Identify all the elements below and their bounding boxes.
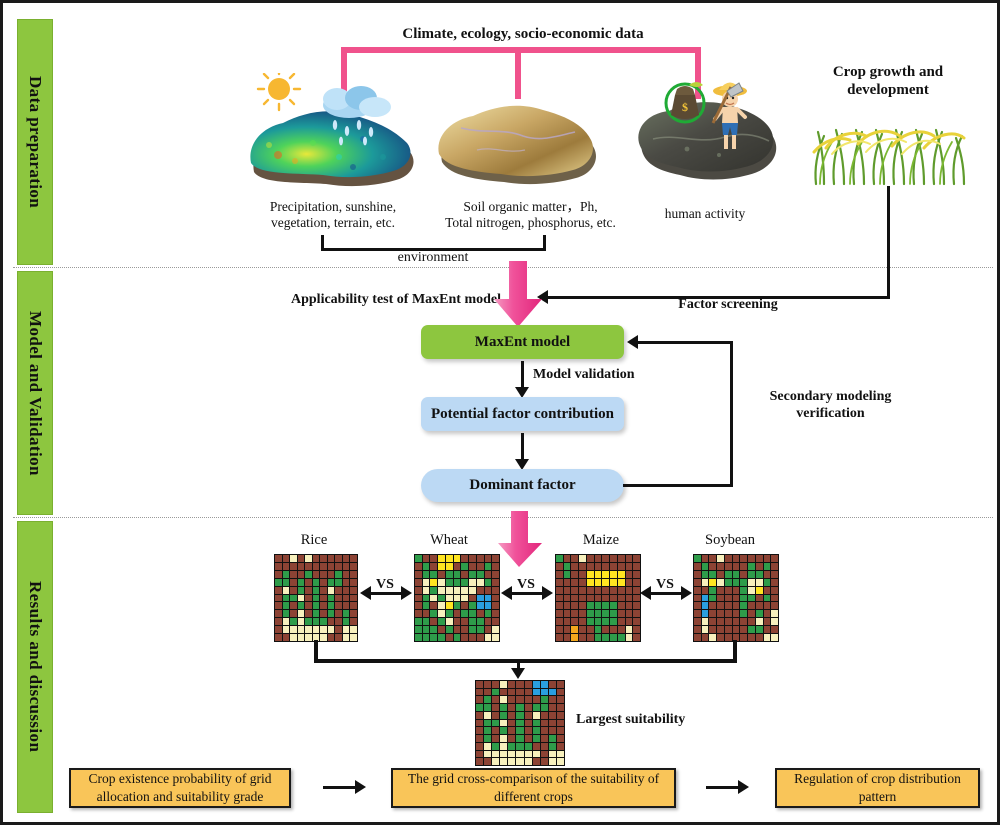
grid-cell: [343, 571, 350, 578]
grid-cell: [423, 555, 430, 562]
grid-cell: [485, 587, 492, 594]
grid-cell: [415, 563, 422, 570]
grid-cell: [492, 571, 499, 578]
grid-cell: [595, 595, 602, 602]
grid-cell: [748, 634, 755, 641]
bottom-step-3-label: Regulation of crop distribution pattern: [794, 770, 961, 805]
grid-cell: [275, 587, 282, 594]
grid-cell: [587, 579, 594, 586]
grid-cell: [579, 579, 586, 586]
grid-cell: [633, 587, 640, 594]
grid-cell: [756, 579, 763, 586]
grid-cell: [469, 571, 476, 578]
crop-grid-maize: [555, 554, 641, 642]
grid-cell: [564, 587, 571, 594]
grid-cell: [587, 626, 594, 633]
crop-grid-soybean: [693, 554, 779, 642]
grid-cell: [579, 595, 586, 602]
environment-bracket-leg-left: [321, 235, 324, 251]
grid-cell: [702, 579, 709, 586]
grid-cell: [430, 602, 437, 609]
grid-cell: [602, 602, 609, 609]
grid-cell: [733, 618, 740, 625]
grid-cell: [626, 602, 633, 609]
merge-line-horizontal: [314, 659, 737, 663]
grid-cell: [740, 571, 747, 578]
grid-cell: [587, 555, 594, 562]
grid-cell: [438, 587, 445, 594]
grid-cell: [313, 626, 320, 633]
grid-cell: [764, 595, 771, 602]
grid-cell: [423, 610, 430, 617]
grid-cell: [571, 563, 578, 570]
grid-cell: [484, 689, 491, 696]
grid-cell: [492, 602, 499, 609]
pink-bracket-top: [341, 47, 701, 53]
bottom-step-1-label: Crop existence probability of grid alloc…: [89, 770, 272, 805]
grid-cell: [702, 618, 709, 625]
grid-cell: [335, 634, 342, 641]
vs-arrow-2-head-left: [501, 586, 512, 600]
grid-cell: [492, 751, 499, 758]
grid-cell: [469, 618, 476, 625]
grid-cell: [748, 563, 755, 570]
grid-cell: [298, 579, 305, 586]
grid-cell: [343, 626, 350, 633]
grid-cell: [571, 602, 578, 609]
grid-cell: [709, 634, 716, 641]
grid-cell: [492, 555, 499, 562]
grid-cell: [298, 563, 305, 570]
bottom-arrow-1-head: [355, 780, 366, 794]
grid-cell: [485, 571, 492, 578]
grid-cell: [461, 555, 468, 562]
grid-cell: [423, 602, 430, 609]
grid-cell: [633, 634, 640, 641]
grid-cell: [423, 579, 430, 586]
grid-cell: [725, 579, 732, 586]
grid-cell: [525, 743, 532, 750]
grid-cell: [508, 720, 515, 727]
grid-cell: [626, 618, 633, 625]
largest-suitability-label: Largest suitability: [576, 711, 756, 728]
grid-cell: [618, 618, 625, 625]
grid-cell: [564, 595, 571, 602]
grid-cell: [618, 579, 625, 586]
grid-cell: [313, 587, 320, 594]
grid-cell: [290, 595, 297, 602]
grid-cell: [764, 563, 771, 570]
grid-cell: [492, 758, 499, 765]
grid-cell: [500, 758, 507, 765]
grid-cell: [328, 571, 335, 578]
grid-cell: [313, 555, 320, 562]
grid-cell: [595, 579, 602, 586]
grid-cell: [290, 610, 297, 617]
grid-cell: [733, 626, 740, 633]
grid-cell: [508, 743, 515, 750]
grid-cell: [618, 571, 625, 578]
grid-cell: [525, 689, 532, 696]
grid-cell: [756, 563, 763, 570]
grid-cell: [484, 758, 491, 765]
grid-cell: [275, 634, 282, 641]
grid-cell: [492, 618, 499, 625]
grid-cell: [610, 634, 617, 641]
grid-cell: [298, 571, 305, 578]
grid-cell: [748, 555, 755, 562]
svg-text:$: $: [682, 100, 688, 114]
grid-cell: [343, 587, 350, 594]
grid-cell: [283, 587, 290, 594]
grid-cell: [564, 579, 571, 586]
grid-cell: [454, 626, 461, 633]
grid-cell: [500, 712, 507, 719]
grid-cell: [275, 626, 282, 633]
vs-label-2: VS: [506, 577, 546, 593]
grid-cell: [556, 634, 563, 641]
grid-cell: [446, 595, 453, 602]
grid-cell: [602, 610, 609, 617]
grid-cell: [557, 681, 564, 688]
grid-cell: [595, 555, 602, 562]
grid-cell: [748, 610, 755, 617]
grid-cell: [454, 579, 461, 586]
grid-cell: [454, 595, 461, 602]
grid-cell: [525, 712, 532, 719]
bottom-step-1[interactable]: Crop existence probability of grid alloc…: [69, 768, 291, 808]
grid-cell: [305, 634, 312, 641]
bottom-step-2[interactable]: The grid cross-comparison of the suitabi…: [391, 768, 676, 808]
feedback-loop-top: [638, 341, 733, 344]
stage-label-results-and-discussion: Results and discussion: [25, 581, 45, 752]
grid-cell: [350, 579, 357, 586]
grid-cell: [423, 563, 430, 570]
grid-cell: [430, 587, 437, 594]
grid-cell: [320, 555, 327, 562]
grid-cell: [335, 595, 342, 602]
crop-title-maize: Maize: [555, 532, 647, 550]
grid-cell: [454, 618, 461, 625]
vs-arrow-3-head-right: [681, 586, 692, 600]
grid-cell: [476, 704, 483, 711]
grid-cell: [485, 634, 492, 641]
grid-cell: [335, 555, 342, 562]
grid-cell: [618, 555, 625, 562]
grid-cell: [595, 602, 602, 609]
grid-cell: [610, 626, 617, 633]
grid-cell: [694, 634, 701, 641]
grid-cell: [485, 626, 492, 633]
grid-cell: [610, 579, 617, 586]
grid-cell: [602, 571, 609, 578]
grid-cell: [748, 626, 755, 633]
grid-cell: [516, 727, 523, 734]
grid-cell: [350, 555, 357, 562]
grid-cell: [454, 587, 461, 594]
vs-label-3: VS: [645, 577, 685, 593]
grid-cell: [771, 579, 778, 586]
grid-cell: [564, 610, 571, 617]
grid-cell: [446, 610, 453, 617]
grid-cell: [290, 626, 297, 633]
grid-cell: [328, 634, 335, 641]
grid-cell: [500, 735, 507, 742]
grid-cell: [549, 727, 556, 734]
flowchart-figure: Data preparation Model and Validation Re…: [0, 0, 1000, 825]
grid-cell: [305, 618, 312, 625]
grid-cell: [415, 634, 422, 641]
grid-cell: [415, 579, 422, 586]
grid-cell: [350, 634, 357, 641]
grid-cell: [549, 751, 556, 758]
grid-cell: [602, 563, 609, 570]
grid-cell: [748, 571, 755, 578]
grid-cell: [618, 610, 625, 617]
grid-cell: [476, 751, 483, 758]
grid-cell: [626, 579, 633, 586]
grid-cell: [320, 587, 327, 594]
grid-cell: [525, 704, 532, 711]
grid-cell: [633, 610, 640, 617]
grid-cell: [556, 571, 563, 578]
grid-cell: [756, 626, 763, 633]
grid-cell: [423, 587, 430, 594]
grid-cell: [415, 618, 422, 625]
grid-cell: [717, 579, 724, 586]
grid-cell: [525, 681, 532, 688]
grid-cell: [633, 571, 640, 578]
grid-cell: [525, 735, 532, 742]
grid-cell: [740, 626, 747, 633]
grid-cell: [533, 735, 540, 742]
grid-cell: [275, 618, 282, 625]
grid-cell: [556, 563, 563, 570]
grid-cell: [328, 587, 335, 594]
grid-cell: [477, 563, 484, 570]
grid-cell: [305, 579, 312, 586]
grid-cell: [733, 595, 740, 602]
grid-cell: [702, 626, 709, 633]
grid-cell: [423, 618, 430, 625]
crop-title-rice: Rice: [268, 532, 360, 550]
grid-cell: [476, 696, 483, 703]
grid-cell: [525, 720, 532, 727]
grid-cell: [476, 681, 483, 688]
grid-cell: [516, 751, 523, 758]
grid-cell: [508, 751, 515, 758]
grid-cell: [484, 735, 491, 742]
grid-cell: [557, 689, 564, 696]
grid-cell: [438, 618, 445, 625]
grid-cell: [557, 735, 564, 742]
grid-cell: [602, 618, 609, 625]
grid-cell: [430, 563, 437, 570]
grid-cell: [764, 555, 771, 562]
grid-cell: [485, 579, 492, 586]
grid-cell: [694, 563, 701, 570]
human-activity-map-icon: $: [633, 75, 778, 188]
stage-label-model-and-validation: Model and Validation: [25, 311, 45, 476]
dominant-factor-box[interactable]: Dominant factor: [421, 469, 624, 502]
grid-cell: [556, 618, 563, 625]
grid-cell: [469, 626, 476, 633]
grid-cell: [283, 618, 290, 625]
grid-cell: [298, 555, 305, 562]
grid-cell: [556, 587, 563, 594]
grid-cell: [328, 579, 335, 586]
feedback-loop-right: [730, 341, 733, 486]
grid-cell: [756, 602, 763, 609]
grid-cell: [290, 618, 297, 625]
stage-label-data-preparation: Data preparation: [25, 76, 45, 208]
grid-cell: [571, 579, 578, 586]
bottom-arrow-2-shaft: [706, 786, 740, 789]
grid-cell: [350, 610, 357, 617]
grid-cell: [740, 610, 747, 617]
grid-cell: [516, 735, 523, 742]
grid-cell: [564, 555, 571, 562]
grid-cell: [587, 595, 594, 602]
grid-cell: [618, 595, 625, 602]
grid-cell: [283, 555, 290, 562]
grid-cell: [275, 571, 282, 578]
grid-cell: [549, 704, 556, 711]
grid-cell: [305, 610, 312, 617]
factor-screening-label: Factor screening: [648, 296, 808, 313]
grid-cell: [430, 618, 437, 625]
grid-cell: [492, 595, 499, 602]
grid-cell: [633, 618, 640, 625]
grid-cell: [350, 626, 357, 633]
grid-cell: [702, 634, 709, 641]
grid-cell: [430, 555, 437, 562]
grid-cell: [313, 571, 320, 578]
grid-cell: [438, 634, 445, 641]
grid-cell: [709, 555, 716, 562]
grid-cell: [725, 602, 732, 609]
grid-cell: [484, 704, 491, 711]
grid-cell: [484, 696, 491, 703]
grid-cell: [626, 555, 633, 562]
grid-cell: [423, 626, 430, 633]
bottom-arrow-1-shaft: [323, 786, 357, 789]
grid-cell: [508, 696, 515, 703]
grid-cell: [709, 587, 716, 594]
crop-title-soybean: Soybean: [684, 532, 776, 550]
maxent-model-box[interactable]: MaxEnt model: [421, 325, 624, 359]
grid-cell: [350, 587, 357, 594]
grid-cell: [492, 579, 499, 586]
grid-cell: [633, 555, 640, 562]
vs-arrow-1-head-left: [360, 586, 371, 600]
grid-cell: [335, 626, 342, 633]
environment-label: environment: [358, 249, 508, 266]
vs-arrow-2-shaft: [510, 592, 544, 595]
grid-cell: [298, 587, 305, 594]
grid-cell: [709, 595, 716, 602]
bottom-step-3[interactable]: Regulation of crop distribution pattern: [775, 768, 980, 808]
vs-arrow-1-shaft: [369, 592, 403, 595]
grid-cell: [525, 696, 532, 703]
grid-cell: [500, 704, 507, 711]
grid-cell: [275, 602, 282, 609]
grid-cell: [484, 727, 491, 734]
grid-cell: [500, 689, 507, 696]
grid-cell: [492, 704, 499, 711]
grid-cell: [702, 571, 709, 578]
grid-cell: [477, 579, 484, 586]
grid-cell: [298, 610, 305, 617]
potential-factor-label: Potential factor contribution: [431, 406, 614, 423]
grid-cell: [430, 634, 437, 641]
grid-cell: [602, 595, 609, 602]
grid-cell: [626, 563, 633, 570]
grid-cell: [771, 571, 778, 578]
grid-cell: [549, 681, 556, 688]
grid-cell: [476, 743, 483, 750]
grid-cell: [717, 618, 724, 625]
grid-cell: [633, 602, 640, 609]
grid-cell: [454, 602, 461, 609]
grid-cell: [740, 595, 747, 602]
grid-cell: [571, 587, 578, 594]
grid-cell: [557, 758, 564, 765]
grid-cell: [557, 704, 564, 711]
grid-cell: [541, 696, 548, 703]
grid-cell: [492, 689, 499, 696]
crop-growth-title: Crop growth and development: [803, 63, 973, 100]
grid-cell: [328, 595, 335, 602]
stage-bar-results-and-discussion: Results and discussion: [17, 521, 53, 813]
grid-cell: [709, 626, 716, 633]
grid-cell: [469, 634, 476, 641]
grid-cell: [313, 595, 320, 602]
grid-cell: [579, 602, 586, 609]
grid-cell: [305, 595, 312, 602]
grid-cell: [320, 610, 327, 617]
grid-cell: [549, 758, 556, 765]
grid-cell: [756, 610, 763, 617]
grid-cell: [492, 712, 499, 719]
grid-cell: [725, 595, 732, 602]
grid-cell: [579, 563, 586, 570]
grid-cell: [702, 563, 709, 570]
grid-cell: [579, 618, 586, 625]
grid-cell: [290, 587, 297, 594]
grid-cell: [717, 563, 724, 570]
grid-cell: [461, 587, 468, 594]
grid-cell: [725, 587, 732, 594]
grid-cell: [756, 555, 763, 562]
grid-cell: [694, 602, 701, 609]
merge-line-arrowhead: [511, 668, 525, 679]
grid-cell: [350, 618, 357, 625]
grid-cell: [764, 587, 771, 594]
grid-cell: [541, 758, 548, 765]
grid-cell: [476, 712, 483, 719]
grid-cell: [328, 563, 335, 570]
grid-cell: [571, 618, 578, 625]
potential-factor-contribution-box[interactable]: Potential factor contribution: [421, 397, 624, 431]
grid-cell: [492, 626, 499, 633]
grid-cell: [740, 563, 747, 570]
grid-cell: [492, 610, 499, 617]
grid-cell: [564, 571, 571, 578]
grid-cell: [533, 743, 540, 750]
grid-cell: [313, 602, 320, 609]
grid-cell: [557, 696, 564, 703]
